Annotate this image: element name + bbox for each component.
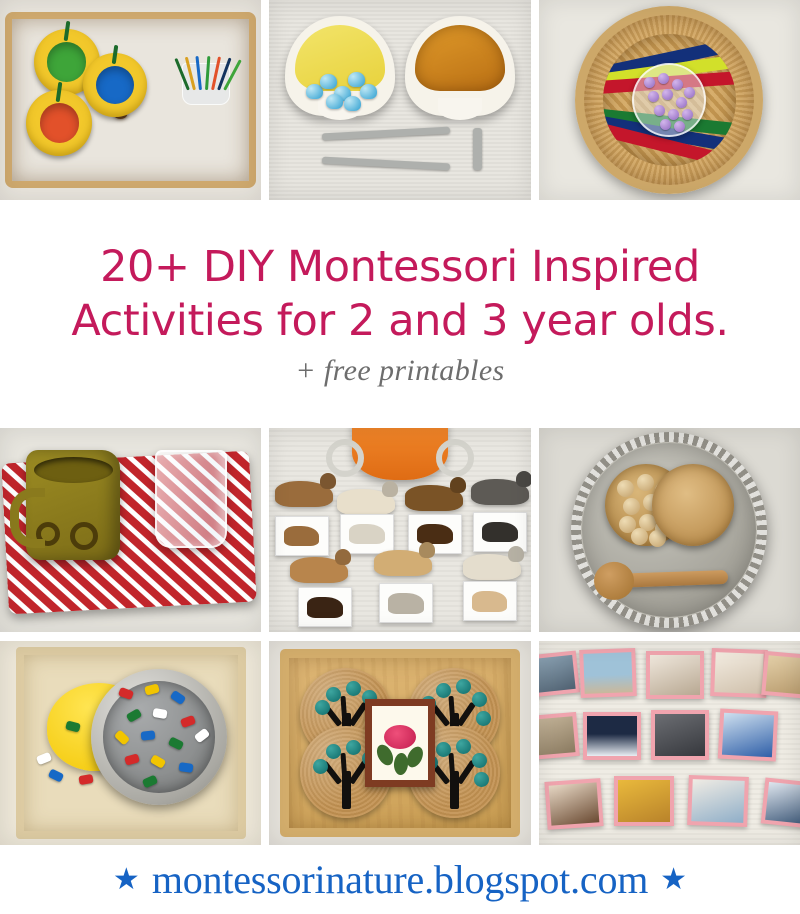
stick-jar	[182, 63, 230, 105]
photo-card	[583, 712, 641, 760]
silver-tray	[571, 432, 767, 628]
horse-figurine	[337, 489, 395, 515]
playdough-bowl-blue	[83, 53, 147, 117]
photo-silver-tray-spooning	[539, 428, 800, 632]
star-icon-left: ★	[113, 865, 140, 895]
title-line-1: 20+ DIY Montessori Inspired	[100, 240, 700, 294]
horse-figurine	[471, 479, 529, 505]
photo-card	[539, 712, 580, 760]
photo-card	[614, 776, 674, 826]
glass-gems	[306, 68, 380, 110]
photo-card	[761, 777, 800, 828]
horse-figurine	[290, 557, 348, 583]
horse-card	[340, 514, 394, 554]
photo-push-pins	[0, 641, 261, 845]
photo-card	[710, 648, 768, 698]
photo-card	[646, 651, 704, 699]
photo-basket-pipecleaners	[539, 0, 800, 200]
woven-basket	[575, 6, 763, 194]
footer-banner: ★ montessorinature.blogspot.com ★	[0, 845, 800, 914]
wooden-spoon	[610, 570, 728, 588]
shell-dish-amber	[405, 16, 515, 116]
star-icon-right: ★	[660, 865, 687, 895]
photo-horse-matching	[269, 428, 530, 632]
pin-graphic: 20+ DIY Montessori Inspired Activities f…	[0, 0, 14, 9]
loose-pin	[35, 751, 51, 765]
photo-row-top	[0, 0, 800, 200]
loose-pin	[79, 773, 94, 784]
photo-pitcher-pouring	[0, 428, 261, 632]
framed-botanical-print	[365, 699, 435, 787]
horse-figurine	[275, 481, 333, 507]
horse-card	[379, 583, 433, 623]
playdough-bowl-orange	[26, 90, 92, 156]
basket-interior	[603, 34, 736, 167]
bead-cup	[632, 63, 706, 137]
horse-figurine	[463, 554, 521, 580]
photo-card	[539, 651, 581, 698]
title-subtitle: + free printables	[295, 354, 504, 388]
horse-card	[275, 516, 329, 556]
metal-bowl-of-pins	[91, 669, 227, 805]
horse-figurine	[405, 485, 463, 511]
wooden-bowl-empty	[652, 464, 734, 546]
wooden-tray	[280, 649, 520, 837]
ceramic-pitcher	[26, 450, 120, 560]
title-line-2: Activities for 2 and 3 year olds.	[71, 294, 728, 348]
photo-card	[651, 710, 709, 760]
wooden-tray	[5, 12, 256, 188]
photo-card	[545, 778, 604, 830]
photo-family-photo-cards	[539, 641, 800, 845]
horse-figurine	[374, 550, 432, 576]
drinking-glass	[155, 450, 227, 548]
horse-card	[463, 581, 517, 621]
metal-tongs	[322, 126, 482, 182]
photo-playdough-tray	[0, 0, 261, 200]
photo-card	[718, 709, 779, 762]
title-block: 20+ DIY Montessori Inspired Activities f…	[0, 200, 800, 428]
blog-url[interactable]: montessorinature.blogspot.com	[152, 856, 648, 903]
orange-bowl	[352, 428, 448, 480]
horse-card	[298, 587, 352, 627]
photo-shells-tongs	[269, 0, 530, 200]
photo-card	[687, 775, 749, 827]
photo-row-bottom	[0, 641, 800, 845]
photo-row-middle	[0, 428, 800, 632]
loose-pin	[48, 769, 65, 783]
wooden-box	[16, 647, 246, 839]
photo-card	[761, 651, 800, 699]
photo-cork-trees-tray	[269, 641, 530, 845]
photo-card	[580, 648, 638, 698]
